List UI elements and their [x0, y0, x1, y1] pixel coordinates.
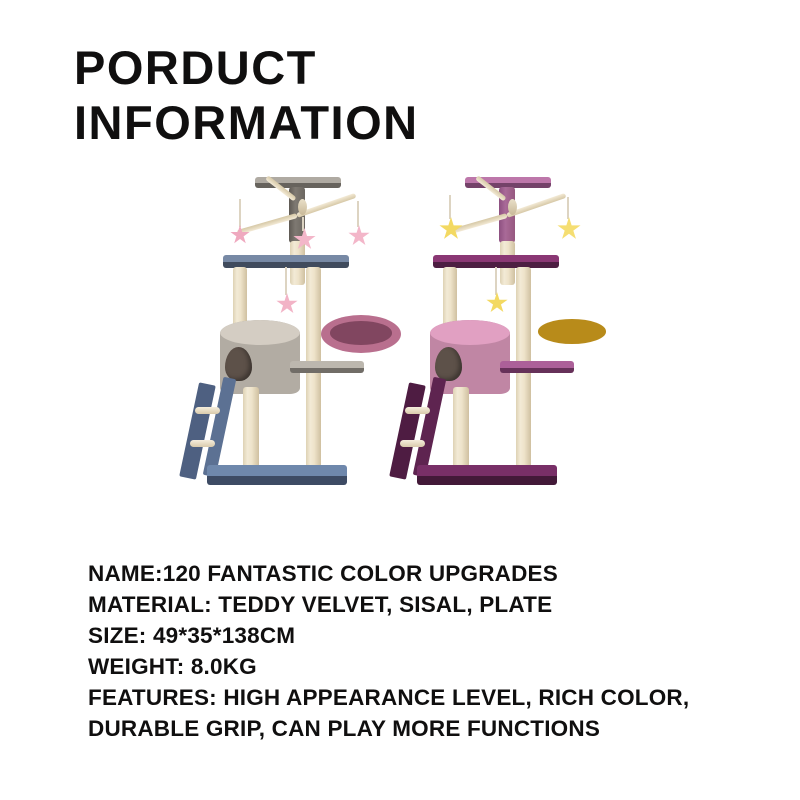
page-title: PORDUCT INFORMATION: [74, 44, 714, 146]
spec-line-weight: WEIGHT: 8.0KG: [88, 651, 728, 682]
lower-post-left-purple: [453, 387, 469, 469]
toy-ball-grey: [298, 199, 307, 215]
hammock-yellow: [528, 313, 616, 353]
lower-post-left-grey: [243, 387, 259, 469]
star-string-under-shelf-purple: [495, 267, 497, 295]
spec-line-material: MATERIAL: TEDDY VELVET, SISAL, PLATE: [88, 589, 728, 620]
lower-post-right-grey: [306, 373, 321, 469]
condo-entrance-grey: [225, 347, 252, 381]
ladder-rung-2: [190, 440, 215, 447]
shelf-post-left-purple: [443, 267, 457, 329]
ladder-rung-2-purple: [400, 440, 425, 447]
star-right-purple: [557, 217, 581, 241]
condo-entrance-pink: [435, 347, 462, 381]
star-string-center-grey: [302, 217, 304, 231]
product-image: [150, 155, 670, 525]
star-string-right-purple: [567, 197, 569, 219]
spec-line-features-1: FEATURES: HIGH APPEARANCE LEVEL, RICH CO…: [88, 682, 728, 713]
star-string-left-purple: [449, 195, 451, 219]
hammock-mauve: [321, 315, 401, 353]
star-right-grey: [348, 225, 370, 247]
base-purple: [417, 465, 557, 485]
lower-post-right-purple: [516, 373, 531, 469]
small-shelf-purple: [500, 361, 574, 373]
star-under-shelf-grey: [276, 293, 298, 315]
spec-line-name: NAME:120 FANTASTIC COLOR UPGRADES: [88, 558, 728, 589]
ladder-rung-1: [195, 407, 220, 414]
spec-line-features-2: DURABLE GRIP, CAN PLAY MORE FUNCTIONS: [88, 713, 728, 744]
toy-ball-purple: [508, 199, 517, 215]
ladder-rung-1-purple: [405, 407, 430, 414]
product-spec-list: NAME:120 FANTASTIC COLOR UPGRADES MATERI…: [88, 558, 728, 744]
small-shelf-grey: [290, 361, 364, 373]
star-string-under-shelf-grey: [285, 267, 287, 295]
spec-line-size: SIZE: 49*35*138CM: [88, 620, 728, 651]
star-under-shelf-purple: [486, 292, 508, 314]
star-string-left-grey: [239, 199, 241, 227]
base-blue: [207, 465, 347, 485]
page-title-line-2: INFORMATION: [74, 99, 714, 146]
page-title-line-1: PORDUCT: [74, 44, 714, 91]
star-string-right-grey: [357, 201, 359, 227]
shelf-post-left-grey: [233, 267, 247, 329]
cat-tree-pink-purple: [395, 155, 655, 525]
